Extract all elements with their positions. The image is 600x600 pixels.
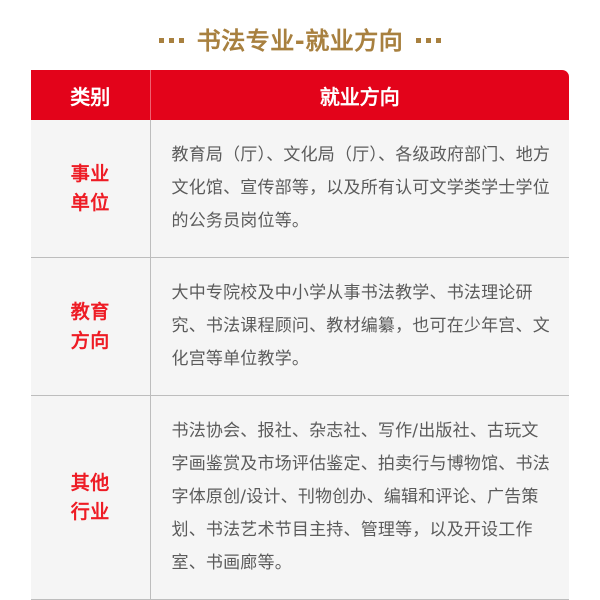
title-dots-left-icon — [159, 38, 184, 45]
category-label-line1: 教育 — [31, 298, 150, 327]
table-row: 事业 单位 教育局（厅）、文化局（厅）、各级政府部门、地方文化馆、宣传部等，以及… — [31, 120, 569, 258]
category-cell: 事业 单位 — [31, 120, 150, 258]
category-label-line2: 方向 — [31, 327, 150, 356]
category-label-line1: 其他 — [31, 469, 150, 498]
page-title: 书法专业-就业方向 — [0, 24, 600, 58]
table-body: 事业 单位 教育局（厅）、文化局（厅）、各级政府部门、地方文化馆、宣传部等，以及… — [31, 120, 569, 600]
employment-directions-table: 类别 就业方向 事业 单位 教育局（厅）、文化局（厅）、各级政府部门、地方文化馆… — [31, 70, 569, 600]
page-title-text: 书法专业-就业方向 — [197, 29, 403, 53]
table-header-row: 类别 就业方向 — [31, 70, 569, 120]
direction-cell: 教育局（厅）、文化局（厅）、各级政府部门、地方文化馆、宣传部等，以及所有认可文学… — [150, 120, 569, 258]
table-row: 教育 方向 大中专院校及中小学从事书法教学、书法理论研究、书法课程顾问、教材编纂… — [31, 258, 569, 396]
category-label-line2: 行业 — [31, 498, 150, 527]
category-cell: 其他 行业 — [31, 396, 150, 600]
category-label-line1: 事业 — [31, 160, 150, 189]
title-dots-right-icon — [416, 38, 441, 45]
column-header-category: 类别 — [31, 70, 150, 120]
table-row: 其他 行业 书法协会、报社、杂志社、写作/出版社、古玩文字画鉴赏及市场评估鉴定、… — [31, 396, 569, 600]
category-label-line2: 单位 — [31, 189, 150, 218]
table-header: 类别 就业方向 — [31, 70, 569, 120]
category-cell: 教育 方向 — [31, 258, 150, 396]
direction-cell: 大中专院校及中小学从事书法教学、书法理论研究、书法课程顾问、教材编纂，也可在少年… — [150, 258, 569, 396]
direction-cell: 书法协会、报社、杂志社、写作/出版社、古玩文字画鉴赏及市场评估鉴定、拍卖行与博物… — [150, 396, 569, 600]
column-header-direction: 就业方向 — [150, 70, 569, 120]
page-root: 书法专业-就业方向 类别 就业方向 事业 单位 教育局（厅）、文化局（厅）、各级… — [0, 0, 600, 570]
